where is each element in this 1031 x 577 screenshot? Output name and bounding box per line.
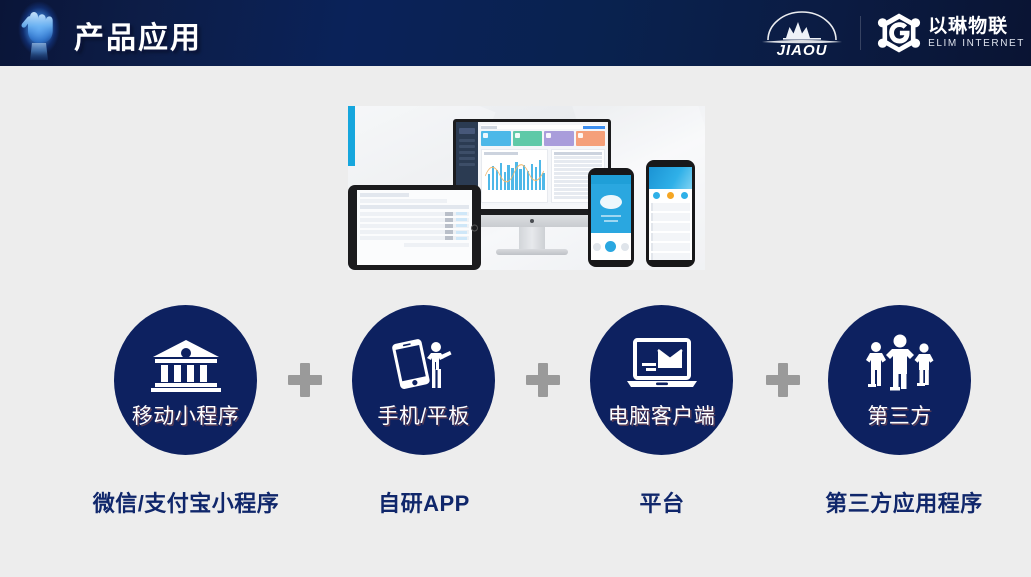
hexagon-g-icon	[877, 11, 921, 55]
dashboard-chart	[481, 149, 548, 203]
laptop-mail-icon	[622, 330, 702, 392]
bank-building-icon	[149, 330, 223, 392]
hero-accent-bar	[348, 106, 355, 166]
node-third-party[interactable]: 第三方	[828, 305, 971, 455]
label-mobile-tablet: 自研APP	[294, 486, 554, 518]
capability-nodes-row: 移动小程序 手机/	[0, 305, 1031, 460]
logo-divider	[860, 16, 861, 50]
jiaou-wordmark: JIAOU	[760, 42, 844, 59]
elim-logo: 以琳物联 ELIM INTERNET	[877, 11, 1025, 55]
arch-crown-icon	[760, 8, 844, 46]
elim-cn-name: 以琳物联	[928, 17, 1025, 36]
dashboard-kpi-cards	[481, 131, 605, 146]
node-mobile-tablet[interactable]: 手机/平板	[352, 305, 495, 455]
phone-right-device	[646, 160, 695, 267]
jiaou-logo: JIAOU	[760, 8, 844, 58]
plus-connector-2	[526, 363, 560, 397]
node-labels-row: 微信/支付宝小程序 自研APP 平台 第三方应用程序	[0, 486, 1031, 526]
node-caption: 手机/平板	[377, 400, 469, 430]
plus-connector-1	[288, 363, 322, 397]
phone-left-device	[588, 168, 634, 267]
node-caption: 电脑客户端	[608, 400, 716, 430]
node-mini-program[interactable]: 移动小程序	[114, 305, 257, 455]
label-mini-program: 微信/支付宝小程序	[56, 486, 316, 518]
node-caption: 移动小程序	[132, 400, 240, 430]
logo-group: JIAOU 以琳物联 ELIM INTERNET	[760, 0, 1025, 66]
node-pc-client[interactable]: 电脑客户端	[590, 305, 733, 455]
page-header: 产品应用 JIAOU 以琳物联 ELIM INTER	[0, 0, 1031, 66]
phone-person-icon	[388, 330, 460, 392]
plus-connector-3	[766, 363, 800, 397]
three-people-icon	[860, 330, 940, 392]
raised-fist-icon	[8, 0, 70, 66]
page-title: 产品应用	[74, 13, 202, 57]
label-third-party: 第三方应用程序	[774, 486, 1031, 518]
label-pc-client: 平台	[532, 486, 792, 518]
elim-en-name: ELIM INTERNET	[928, 39, 1025, 49]
node-caption: 第三方	[867, 400, 932, 430]
tablet-device	[348, 185, 481, 270]
multi-device-showcase-image	[348, 106, 705, 270]
